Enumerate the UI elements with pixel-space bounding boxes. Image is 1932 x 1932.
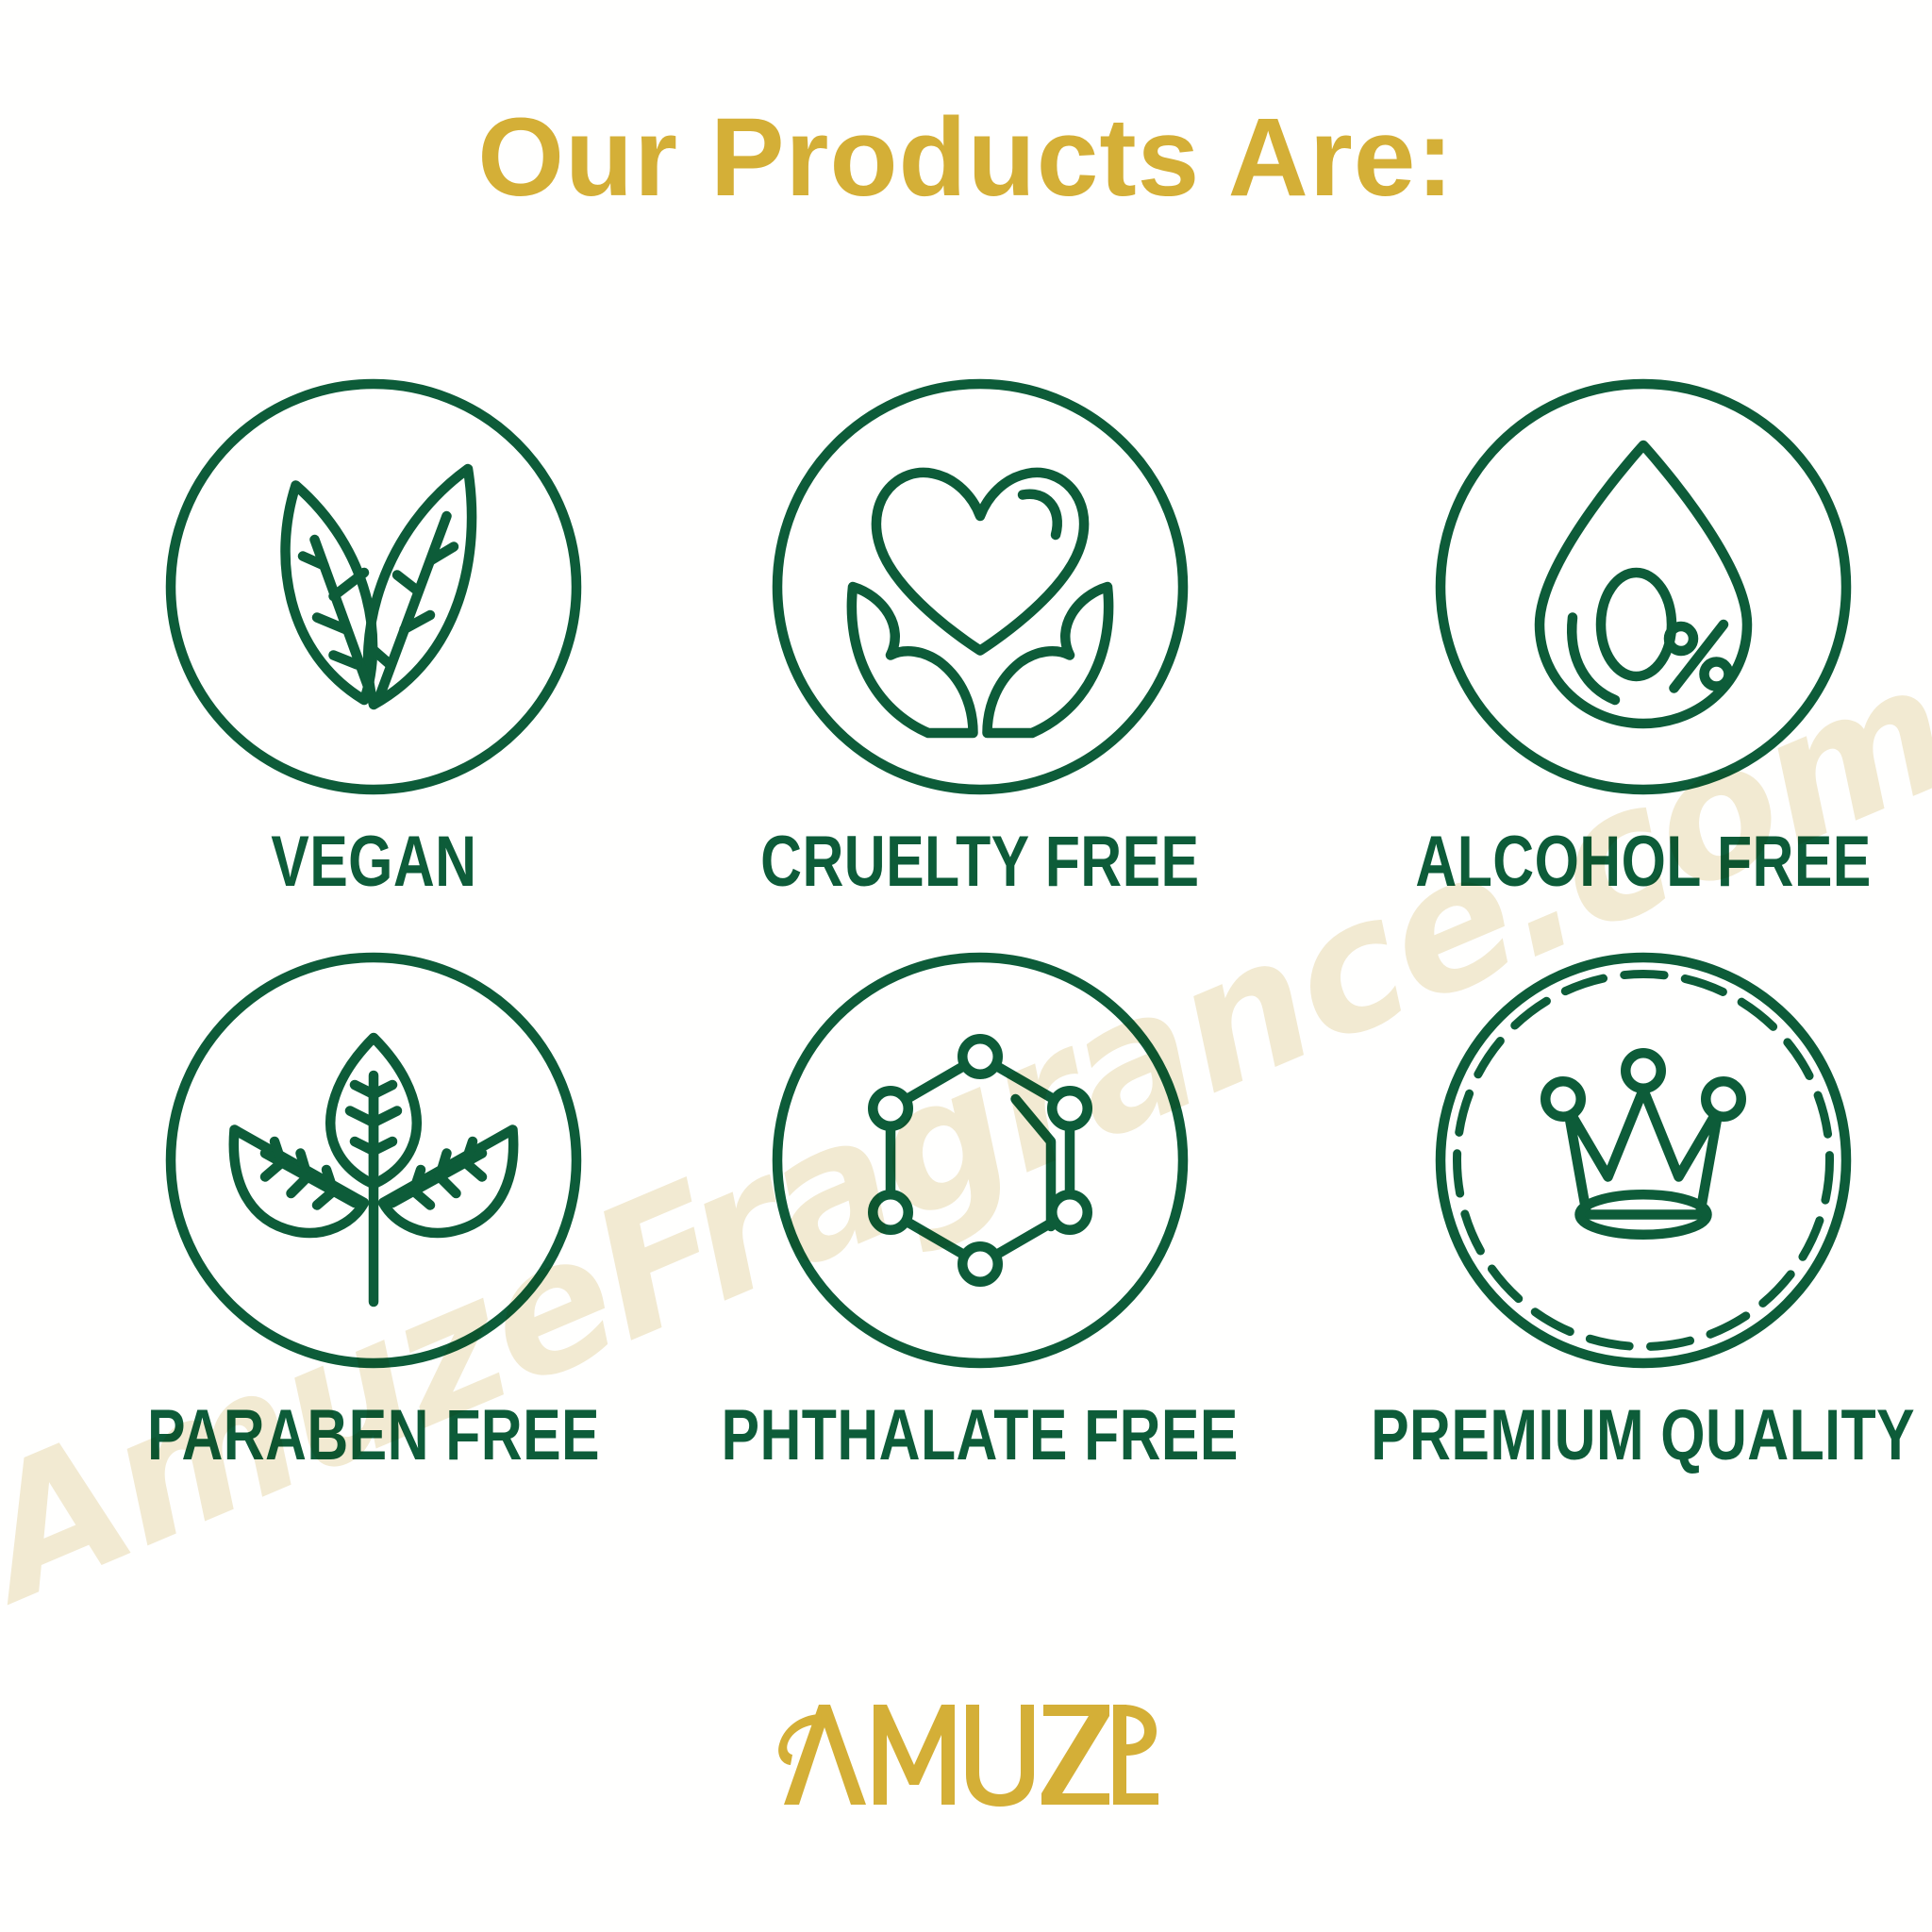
page-title: Our Products Are: [0, 102, 1932, 213]
amuze-wordmark-icon [768, 1695, 1164, 1816]
badge-label: PARABEN FREE [147, 1400, 600, 1472]
badge-paraben-free: PARABEN FREE [91, 924, 657, 1472]
badge-premium-quality: PREMIUM QUALITY [1303, 924, 1932, 1472]
badge-alcohol-free: ALCOHOL FREE [1303, 351, 1932, 898]
plant-sprout-icon [138, 924, 609, 1396]
badge-label: PHTHALATE FREE [722, 1400, 1239, 1472]
badge-cruelty-free: CRUELTY FREE [657, 351, 1303, 898]
poster-canvas: Our Products Are: [0, 0, 1932, 1932]
badge-label: CRUELTY FREE [760, 826, 1199, 898]
heart-in-hands-icon [744, 351, 1216, 823]
badge-vegan: VEGAN [91, 351, 657, 898]
two-leaves-icon [138, 351, 609, 823]
brand-logo [0, 1695, 1932, 1821]
water-droplet-zero-percent-icon [1407, 351, 1879, 823]
badge-phthalate-free: PHTHALATE FREE [657, 924, 1303, 1472]
badge-label: VEGAN [271, 826, 476, 898]
molecule-hexagon-icon [744, 924, 1216, 1396]
crown-icon [1407, 924, 1879, 1396]
badge-label: ALCOHOL FREE [1415, 826, 1871, 898]
badge-label: PREMIUM QUALITY [1371, 1400, 1915, 1472]
badge-grid: VEGAN CRUELTY FREE [91, 351, 1841, 1472]
